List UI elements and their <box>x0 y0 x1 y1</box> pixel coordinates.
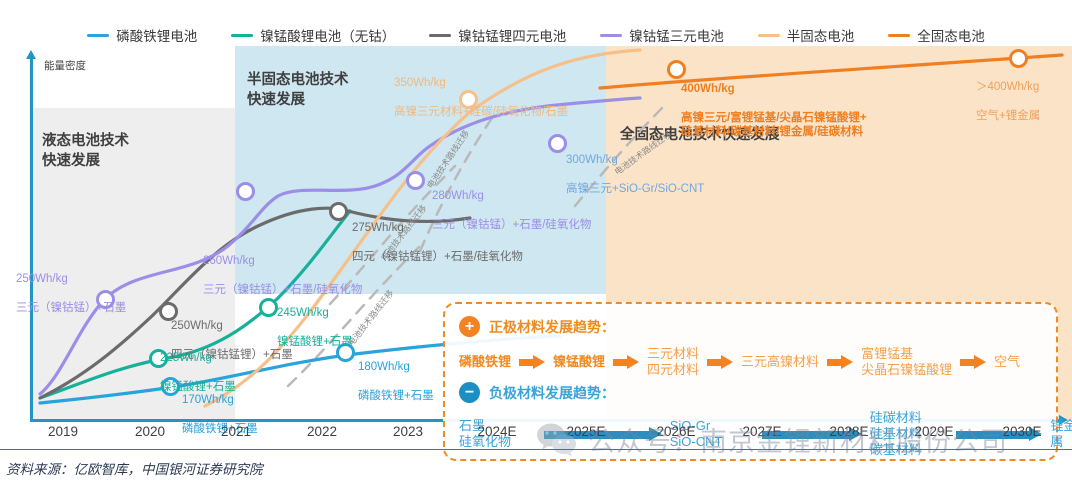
annotation-ncm-250: 250Wh/kg 三元（镍钴锰）+石墨 <box>16 257 126 330</box>
annotation-value: ＞400Wh/kg <box>976 80 1040 95</box>
anode-title: 负极材料发展趋势： <box>489 383 615 403</box>
marker-quad-275[interactable] <box>329 202 348 221</box>
annotation-material: 高镍三元/富锂锰基/尖晶石镍锰酸锂+ 硅基材料/碳基材料/锂金属/硅碳材料 <box>681 111 867 140</box>
annotation-value: 250Wh/kg <box>171 319 293 334</box>
annotation-material: 高镍三元+SiO-Gr/SiO-CNT <box>566 182 704 197</box>
cathode-step-2: 镍锰酸锂 <box>553 354 605 370</box>
legend-swatch-lfp <box>87 34 109 37</box>
legend-label-semisolid: 半固态电池 <box>787 25 855 45</box>
cathode-step-6: 空气 <box>994 354 1020 370</box>
minus-icon: − <box>459 382 480 403</box>
annotation-ncm-260: 260Wh/kg 三元（镍钴锰）+石墨/硅氧化物 <box>203 239 362 312</box>
legend-item-ncm[interactable]: 镍钴锰三元电池 <box>600 25 724 45</box>
cathode-chain: 磷酸铁锂 镍锰酸锂 三元材料 四元材料 三元高镍材料 富锂锰基 尖晶石镍锰酸锂 … <box>459 346 1020 378</box>
anode-header: − 负极材料发展趋势： <box>459 382 615 403</box>
legend-swatch-semisolid <box>758 34 780 37</box>
annotation-ssb-400: 400Wh/kg 高镍三元/富锂锰基/尖晶石镍锰酸锂+ 硅基材料/碳基材料/锂金… <box>681 67 867 154</box>
legend-item-solidstate[interactable]: 全固态电池 <box>888 25 985 45</box>
arrow-right-icon <box>707 355 733 370</box>
legend-swatch-quaternary <box>429 34 451 37</box>
marker-ncm-280[interactable] <box>406 171 425 190</box>
x-tick-2026E: 2026E <box>656 424 695 439</box>
x-tick-2021: 2021 <box>221 424 251 439</box>
cathode-title: 正极材料发展趋势： <box>489 317 615 337</box>
annotation-material: 空气+锂金属 <box>976 109 1040 124</box>
annotation-value: 170Wh/kg <box>182 393 258 408</box>
legend-swatch-ncm <box>600 34 622 37</box>
annotation-value: 350Wh/kg <box>394 76 568 91</box>
annotation-value: 400Wh/kg <box>681 82 867 97</box>
legend-item-lfp[interactable]: 磷酸铁锂电池 <box>87 25 197 45</box>
annotation-material: 三元（镍钴锰）+石墨/硅氧化物 <box>203 283 362 298</box>
arrow-right-icon <box>613 355 639 370</box>
annotation-value: 300Wh/kg <box>566 153 704 168</box>
annotation-value: 180Wh/kg <box>358 360 434 375</box>
legend-label-quaternary: 镍钴锰锂四元电池 <box>458 25 566 45</box>
cathode-step-1: 磷酸铁锂 <box>459 354 511 370</box>
x-tick-2022: 2022 <box>307 424 337 439</box>
annotation-value: 250Wh/kg <box>16 272 126 287</box>
legend-item-lnmo[interactable]: 镍锰酸锂电池（无钴） <box>231 25 395 45</box>
marker-ncm-260[interactable] <box>236 182 255 201</box>
legend-label-solidstate: 全固态电池 <box>917 25 985 45</box>
annotation-lfp-180: 180Wh/kg 磷酸铁锂+石墨 <box>358 345 434 418</box>
x-tick-2023: 2023 <box>393 424 423 439</box>
annotation-material: 三元（镍钴锰）+石墨/硅氧化物 <box>432 218 591 233</box>
legend-swatch-lnmo <box>231 34 253 37</box>
legend-label-ncm: 镍钴锰三元电池 <box>629 25 724 45</box>
legend-label-lfp: 磷酸铁锂电池 <box>116 25 197 45</box>
cathode-step-4: 三元高镍材料 <box>741 354 819 370</box>
chart-root: 磷酸铁锂电池 镍锰酸锂电池（无钴） 镍钴锰锂四元电池 镍钴锰三元电池 半固态电池… <box>0 0 1072 484</box>
legend-item-quaternary[interactable]: 镍钴锰锂四元电池 <box>429 25 566 45</box>
annotation-material: 镍锰酸锂+石墨 <box>277 335 353 350</box>
cathode-header: + 正极材料发展趋势： <box>459 316 615 337</box>
annotation-value: 260Wh/kg <box>203 254 362 269</box>
annotation-material: 四元（镍钴锰锂）+石墨/硅氧化物 <box>352 250 523 265</box>
cathode-step-5: 富锂锰基 尖晶石镍锰酸锂 <box>861 346 952 378</box>
x-tick-2025E: 2025E <box>566 424 605 439</box>
footer-divider <box>0 449 1072 450</box>
arrow-right-icon <box>519 355 545 370</box>
legend-label-lnmo: 镍锰酸锂电池（无钴） <box>260 25 395 45</box>
x-tick-2029E: 2029E <box>914 424 953 439</box>
cathode-step-3: 三元材料 四元材料 <box>647 346 699 378</box>
plot-area: 液态电池技术 快速发展 半固态电池技术 快速发展 全固态电池技术快速发展 能量密… <box>0 46 1072 421</box>
annotation-semi-350: 350Wh/kg 高镍三元材料+硅碳/硅氧化物/石墨 <box>394 61 568 134</box>
annotation-ssb-max: ＞400Wh/kg 空气+锂金属 <box>976 65 1040 138</box>
annotation-material: 高镍三元材料+硅碳/硅氧化物/石墨 <box>394 105 568 120</box>
x-tick-2027E: 2027E <box>742 424 781 439</box>
arrow-right-icon <box>827 355 853 370</box>
annotation-material: 三元（镍钴锰）+石墨 <box>16 301 126 316</box>
legend-swatch-solidstate <box>888 34 910 37</box>
x-tick-2019: 2019 <box>48 424 78 439</box>
legend-item-semisolid[interactable]: 半固态电池 <box>758 25 855 45</box>
chart-legend: 磷酸铁锂电池 镍锰酸锂电池（无钴） 镍钴锰锂四元电池 镍钴锰三元电池 半固态电池… <box>0 24 1072 46</box>
x-tick-2030E: 2030E <box>1002 424 1041 439</box>
x-axis-ticks: 2019 2020 2021 2022 2023 2024E 2025E 202… <box>0 424 1072 446</box>
annotation-material: 磷酸铁锂+石墨 <box>358 389 434 404</box>
plus-icon: + <box>459 316 480 337</box>
marker-ncm-300[interactable] <box>548 134 567 153</box>
x-tick-2024E: 2024E <box>477 424 516 439</box>
annotation-value: 225Wh/kg <box>160 351 236 366</box>
x-tick-2020: 2020 <box>135 424 165 439</box>
arrow-right-icon <box>960 355 986 370</box>
x-tick-2028E: 2028E <box>829 424 868 439</box>
source-note: 资料来源：亿欧智库，中国银河证券研究院 <box>6 458 263 478</box>
